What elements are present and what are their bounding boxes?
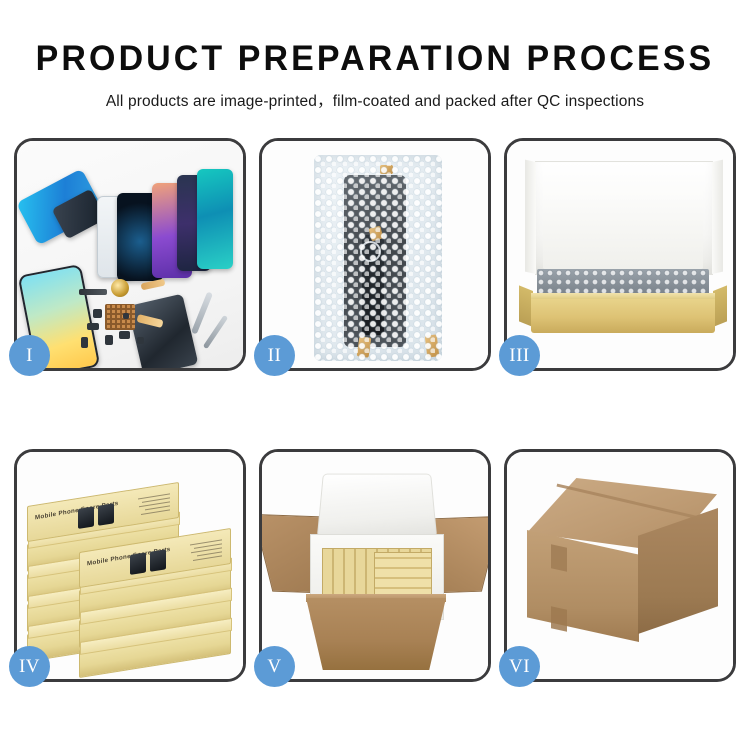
step-card-1[interactable]: I (14, 138, 246, 371)
camera-lens-part (111, 279, 129, 297)
bubble-wrap-scene (262, 141, 488, 368)
inner-box-scene (507, 141, 733, 368)
step-image-4: Mobile Phone Spare Parts Mobile Phone Sp… (17, 452, 243, 679)
step-card-2[interactable]: II (259, 138, 491, 371)
speaker-part (79, 289, 107, 295)
small-part-6 (81, 337, 88, 348)
stacked-boxes-scene: Mobile Phone Spare Parts Mobile Phone Sp… (17, 452, 243, 679)
phone-parts-scene (17, 141, 243, 368)
step-image-1 (17, 141, 243, 368)
step-card-6[interactable]: VI (504, 449, 736, 682)
step-card-4[interactable]: Mobile Phone Spare Parts Mobile Phone Sp… (14, 449, 246, 682)
screwdriver-tool-2 (203, 315, 228, 349)
foam-liner-lid (317, 474, 437, 538)
small-part-3 (105, 335, 113, 345)
page-title: PRODUCT PREPARATION PROCESS (11, 38, 739, 80)
step-image-3 (507, 141, 733, 368)
step-image-6 (507, 452, 733, 679)
infographic-page: PRODUCT PREPARATION PROCESS All products… (0, 0, 750, 750)
small-part-1 (93, 309, 102, 318)
carton-tape-upper (551, 544, 567, 571)
bubble-texture (314, 155, 442, 361)
step-badge-3: III (499, 335, 540, 376)
sealed-carton-scene (507, 452, 733, 679)
step-image-5 (262, 452, 488, 679)
box-label-phone-image-2 (98, 503, 114, 526)
process-steps-grid: I II (14, 138, 736, 683)
step-badge-5: V (254, 646, 295, 687)
foam-carton-scene (262, 452, 488, 679)
carton-left-face (527, 530, 639, 642)
small-part-2 (87, 323, 99, 330)
phone-screen-teal (197, 169, 233, 269)
lid-foam-insert (543, 191, 703, 269)
box-label-phone-image-1 (130, 552, 146, 575)
step-card-3[interactable]: III (504, 138, 736, 371)
small-part-7 (123, 313, 129, 319)
carton-front-panel (306, 598, 446, 670)
box-label-phone-image-2 (150, 549, 166, 572)
carton-tape-lower (551, 606, 567, 631)
step-badge-4: IV (9, 646, 50, 687)
bubble-wrap-bag (314, 155, 442, 361)
small-part-4 (119, 331, 130, 339)
step-badge-2: II (254, 335, 295, 376)
small-part-5 (137, 337, 144, 344)
step-image-2 (262, 141, 488, 368)
step-card-5[interactable]: V (259, 449, 491, 682)
step-badge-6: VI (499, 646, 540, 687)
header: PRODUCT PREPARATION PROCESS All products… (0, 0, 750, 111)
box-label-phone-image-1 (78, 506, 94, 529)
phone-back-housing (128, 294, 199, 368)
page-subtitle: All products are image-printed，film-coat… (0, 89, 750, 111)
step-badge-1: I (9, 335, 50, 376)
box-right-side (713, 285, 727, 327)
box-front-panel (531, 299, 715, 333)
logic-board-part (105, 304, 135, 330)
screwdriver-tool-1 (191, 291, 213, 334)
box-stack: Mobile Phone Spare Parts Mobile Phone Sp… (23, 470, 243, 670)
